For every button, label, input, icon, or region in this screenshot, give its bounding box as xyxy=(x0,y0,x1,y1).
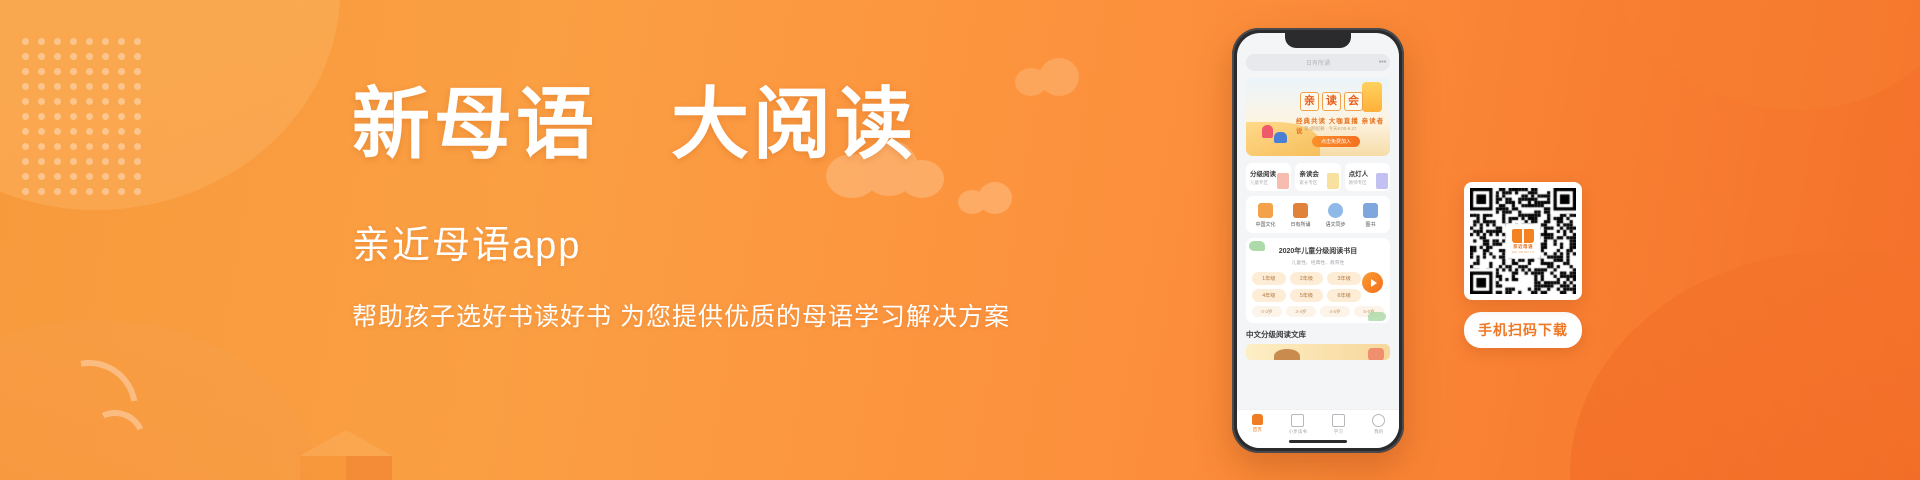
cloud-decoration-c xyxy=(1015,58,1081,98)
hero-title: 亲 读 会 xyxy=(1300,92,1363,111)
quick-link-sync[interactable]: 语文同步 xyxy=(1319,203,1353,228)
play-video-icon[interactable] xyxy=(1362,272,1383,293)
download-button[interactable]: 手机扫码下载 xyxy=(1464,312,1582,348)
library-illustration xyxy=(1274,349,1300,360)
book-logo-icon xyxy=(1512,229,1534,243)
home-icon xyxy=(1252,414,1263,425)
leaf-decoration xyxy=(1249,241,1265,251)
reading-list-promo[interactable]: 2020年儿童分级阅读书目 儿童性、经典性、教育性 1年级 2年级 3年级 4年… xyxy=(1246,238,1390,323)
child-figure-2 xyxy=(1274,132,1287,143)
search-input[interactable]: 日有所诵 ••• xyxy=(1246,54,1390,71)
quick-link-books[interactable]: 图书 xyxy=(1354,203,1388,228)
sun-icon xyxy=(1362,82,1382,112)
books-icon xyxy=(1363,203,1378,218)
library-title: 中文分级阅读文库 xyxy=(1246,329,1390,340)
quick-links-row: 中国文化 日有所诵 语文同步 图书 xyxy=(1246,196,1390,233)
hero-detail: 第4期招募 · 今天8:00-9.27 xyxy=(1304,126,1357,132)
quick-link-label: 语文同步 xyxy=(1325,221,1345,228)
cube-decoration xyxy=(300,430,392,480)
age-chips: 0-3岁 3-4岁 4-5岁 5-6岁 xyxy=(1252,306,1384,317)
tab-reading[interactable]: 小步读书 xyxy=(1278,414,1319,435)
category-card[interactable]: 分级阅读 儿童专区 xyxy=(1246,163,1291,191)
hero-title-char: 读 xyxy=(1322,92,1341,111)
phone-mockup: 日有所诵 ••• 亲 读 会 经典共读 大咖直播 亲读者说 第4期招募 · 今天… xyxy=(1232,28,1404,453)
lantern-icon xyxy=(1258,203,1273,218)
tab-label: 小步读书 xyxy=(1289,429,1307,435)
tab-label: 首页 xyxy=(1253,427,1262,433)
child-figure-1 xyxy=(1262,125,1273,138)
study-icon xyxy=(1332,414,1345,427)
phone-notch xyxy=(1285,33,1351,48)
grade-chip[interactable]: 2年级 xyxy=(1290,272,1324,285)
grade-chip[interactable]: 4年级 xyxy=(1252,289,1286,302)
hero-cta-button[interactable]: 点击免费加入 xyxy=(1312,136,1360,147)
leaf-decoration-2 xyxy=(1368,312,1386,321)
promo-title: 2020年儿童分级阅读书目 xyxy=(1252,246,1384,256)
page-title: 新母语 大阅读 xyxy=(352,86,1012,164)
category-cards: 分级阅读 儿童专区 亲读会 家长专区 点灯人 教师专区 xyxy=(1246,163,1390,191)
phone-screen: 日有所诵 ••• 亲 读 会 经典共读 大咖直播 亲读者说 第4期招募 · 今天… xyxy=(1237,33,1399,448)
promo-subtitle: 儿童性、经典性、教育性 xyxy=(1252,259,1384,266)
age-chip[interactable]: 4-5岁 xyxy=(1320,306,1350,317)
card-illustration xyxy=(1327,173,1339,189)
hero-title-char: 亲 xyxy=(1300,92,1319,111)
grade-chip[interactable]: 6年级 xyxy=(1327,289,1361,302)
headline-part-1: 新母语 xyxy=(352,81,598,168)
decorative-blob-bottom-right xyxy=(1570,250,1920,480)
sync-icon xyxy=(1328,203,1343,218)
decorative-blob-top-right xyxy=(1600,0,1920,110)
quick-link-label: 图书 xyxy=(1365,221,1375,228)
category-card[interactable]: 点灯人 教师专区 xyxy=(1345,163,1390,191)
search-placeholder: 日有所诵 xyxy=(1306,58,1330,67)
tab-profile[interactable]: 我的 xyxy=(1359,414,1400,435)
age-chip[interactable]: 3-4岁 xyxy=(1286,306,1316,317)
home-indicator xyxy=(1289,440,1347,443)
ellipsis-icon[interactable]: ••• xyxy=(1375,55,1390,70)
banner-copy: 新母语 大阅读 亲近母语app 帮助孩子选好书读好书 为您提供优质的母语学习解决… xyxy=(352,86,1012,333)
qr-download-block: 亲近母语 QIN JIN MU YU 手机扫码下载 xyxy=(1464,182,1582,348)
library-illustration-2 xyxy=(1368,348,1384,360)
quick-link-label: 日有所诵 xyxy=(1290,221,1310,228)
grade-chip[interactable]: 1年级 xyxy=(1252,272,1286,285)
card-illustration xyxy=(1376,173,1388,189)
grade-chip[interactable]: 3年级 xyxy=(1327,272,1361,285)
hero-title-char: 会 xyxy=(1344,92,1363,111)
quick-link-daily-recite[interactable]: 日有所诵 xyxy=(1284,203,1318,228)
headline-part-2: 大阅读 xyxy=(671,81,917,168)
qr-code[interactable]: 亲近母语 QIN JIN MU YU xyxy=(1464,182,1582,300)
hero-subtitle: 经典共读 大咖直播 亲读者说 xyxy=(1296,115,1390,135)
tab-label: 我的 xyxy=(1374,429,1383,435)
qr-center-logo: 亲近母语 QIN JIN MU YU xyxy=(1507,225,1539,257)
promo-banner: 新母语 大阅读 亲近母语app 帮助孩子选好书读好书 为您提供优质的母语学习解决… xyxy=(0,0,1920,480)
dot-grid-decoration xyxy=(22,38,146,198)
quick-link-label: 中国文化 xyxy=(1255,221,1275,228)
grade-chip[interactable]: 5年级 xyxy=(1290,289,1324,302)
age-chip[interactable]: 0-3岁 xyxy=(1252,306,1282,317)
quick-link-china-culture[interactable]: 中国文化 xyxy=(1249,203,1283,228)
library-banner[interactable] xyxy=(1246,344,1390,360)
category-card[interactable]: 亲读会 家长专区 xyxy=(1295,163,1340,191)
tab-study[interactable]: 学习 xyxy=(1318,414,1359,435)
banner-tagline: 帮助孩子选好书读好书 为您提供优质的母语学习解决方案 xyxy=(352,297,1012,333)
profile-icon xyxy=(1372,414,1385,427)
hero-banner[interactable]: 亲 读 会 经典共读 大咖直播 亲读者说 第4期招募 · 今天8:00-9.27… xyxy=(1246,78,1390,156)
reading-icon xyxy=(1291,414,1304,427)
card-illustration xyxy=(1277,173,1289,189)
qr-logo-name: 亲近母语 xyxy=(1513,244,1533,250)
qr-logo-en: QIN JIN MU YU xyxy=(1512,251,1534,254)
tab-label: 学习 xyxy=(1334,429,1343,435)
tab-home[interactable]: 首页 xyxy=(1237,414,1278,433)
app-name: 亲近母语app xyxy=(352,214,1012,269)
book-stack-icon xyxy=(1293,203,1308,218)
